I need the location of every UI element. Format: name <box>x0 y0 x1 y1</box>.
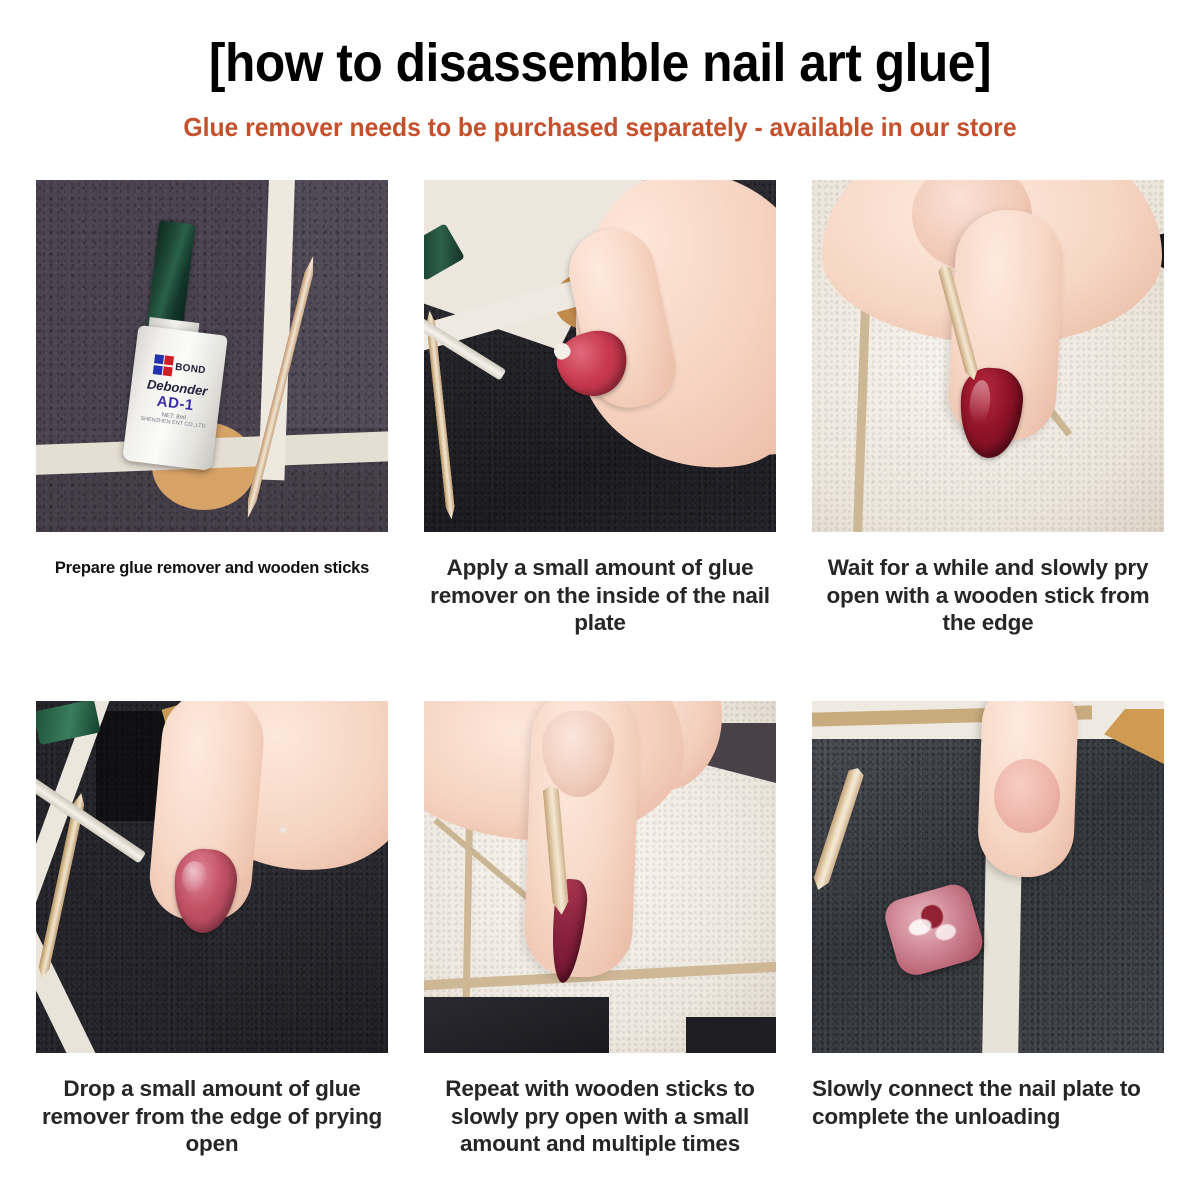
page-title: [how to disassemble nail art glue] <box>48 0 1152 90</box>
step-photo-2 <box>424 180 776 532</box>
step-card-2: Apply a small amount of glue remover on … <box>424 180 776 637</box>
step-photo-3 <box>812 180 1164 532</box>
step-caption-6: Slowly connect the nail plate to complet… <box>812 1053 1164 1130</box>
step-photo-4 <box>36 701 388 1053</box>
bottle-label: BOND Debonder AD-1 NET: 8ml SHENZHEN ENT… <box>126 351 224 461</box>
step-photo-6 <box>812 701 1164 1053</box>
page-header: [how to disassemble nail art glue] Glue … <box>0 0 1200 140</box>
step-caption-2: Apply a small amount of glue remover on … <box>424 532 776 637</box>
step-photo-5 <box>424 701 776 1053</box>
bottle-brand: BOND <box>175 361 207 376</box>
page-subtitle: Glue remover needs to be purchased separ… <box>30 90 1170 140</box>
step-card-1: BOND Debonder AD-1 NET: 8ml SHENZHEN ENT… <box>36 180 388 637</box>
step-caption-1: Prepare glue remover and wooden sticks <box>36 532 388 578</box>
step-card-4: Drop a small amount of glue remover from… <box>36 701 388 1158</box>
step-card-5: Repeat with wooden sticks to slowly pry … <box>424 701 776 1158</box>
steps-grid-row-2: Drop a small amount of glue remover from… <box>0 701 1200 1158</box>
steps-grid-row-1: BOND Debonder AD-1 NET: 8ml SHENZHEN ENT… <box>0 180 1200 637</box>
step-card-3: Wait for a while and slowly pry open wit… <box>812 180 1164 637</box>
step-photo-1: BOND Debonder AD-1 NET: 8ml SHENZHEN ENT… <box>36 180 388 532</box>
step-caption-4: Drop a small amount of glue remover from… <box>36 1053 388 1158</box>
step-card-6: Slowly connect the nail plate to complet… <box>812 701 1164 1158</box>
step-caption-3: Wait for a while and slowly pry open wit… <box>812 532 1164 637</box>
step-caption-5: Repeat with wooden sticks to slowly pry … <box>424 1053 776 1158</box>
